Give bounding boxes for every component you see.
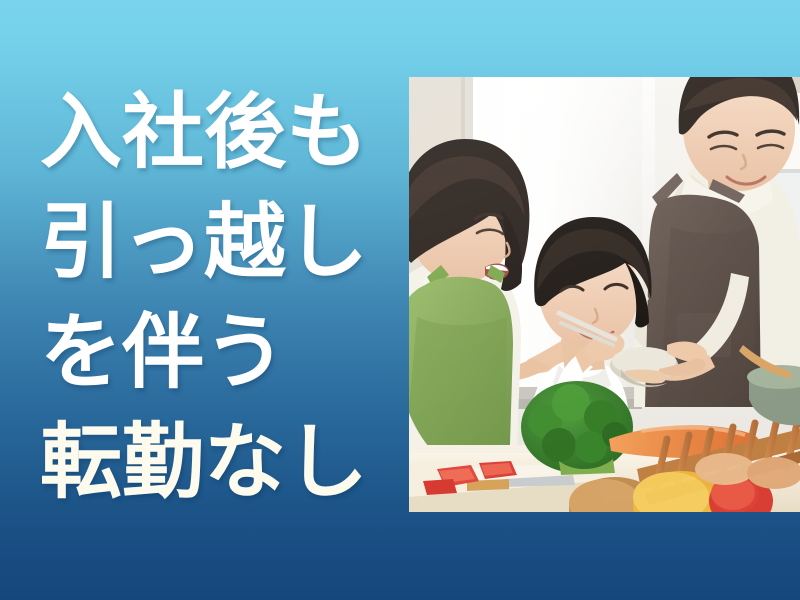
- family-cooking-photo: [409, 77, 800, 512]
- headline-line-1: 入社後も: [40, 78, 390, 188]
- headline-block: 入社後も 引っ越し を伴う 転勤なし: [40, 78, 390, 518]
- headline-line-2: 引っ越し: [40, 188, 390, 298]
- headline-line-4: 転勤なし: [40, 408, 390, 518]
- recruitment-banner: 入社後も 引っ越し を伴う 転勤なし: [0, 0, 800, 600]
- headline-line-3: を伴う: [40, 298, 390, 408]
